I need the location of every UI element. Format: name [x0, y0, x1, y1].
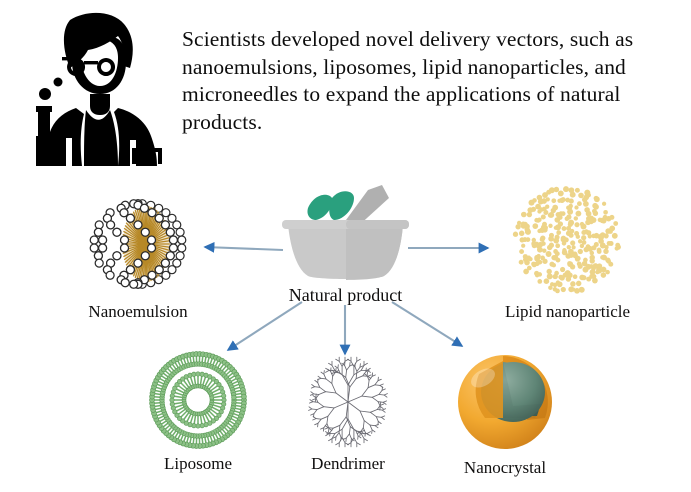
lipid-nanoparticle-icon [460, 184, 675, 302]
mortar-and-pestle-icon [258, 180, 433, 285]
figure-canvas: Scientists developed novel delivery vect… [0, 0, 691, 492]
node-nanoemulsion[interactable]: Nanoemulsion [38, 190, 238, 322]
node-label-nanoemulsion: Nanoemulsion [38, 302, 238, 322]
node-label-nanocrystal: Nanocrystal [400, 458, 610, 478]
scientist-with-flask-icon [14, 8, 166, 166]
nanoemulsion-icon [38, 190, 238, 302]
header-band: Scientists developed novel delivery vect… [0, 0, 691, 172]
node-natural-product[interactable]: Natural product [258, 180, 433, 305]
arrow-to-nanocrystal [392, 302, 462, 346]
node-label-natural-product: Natural product [258, 285, 433, 305]
node-label-lipid-nanoparticle: Lipid nanoparticle [460, 302, 675, 322]
nanocrystal-icon [400, 350, 610, 458]
node-nanocrystal[interactable]: Nanocrystal [400, 350, 610, 478]
concept-diagram: Natural product [0, 172, 691, 492]
headline-text: Scientists developed novel delivery vect… [182, 26, 682, 136]
arrow-to-liposome [228, 302, 302, 350]
node-lipid-nanoparticle[interactable]: Lipid nanoparticle [460, 184, 675, 322]
